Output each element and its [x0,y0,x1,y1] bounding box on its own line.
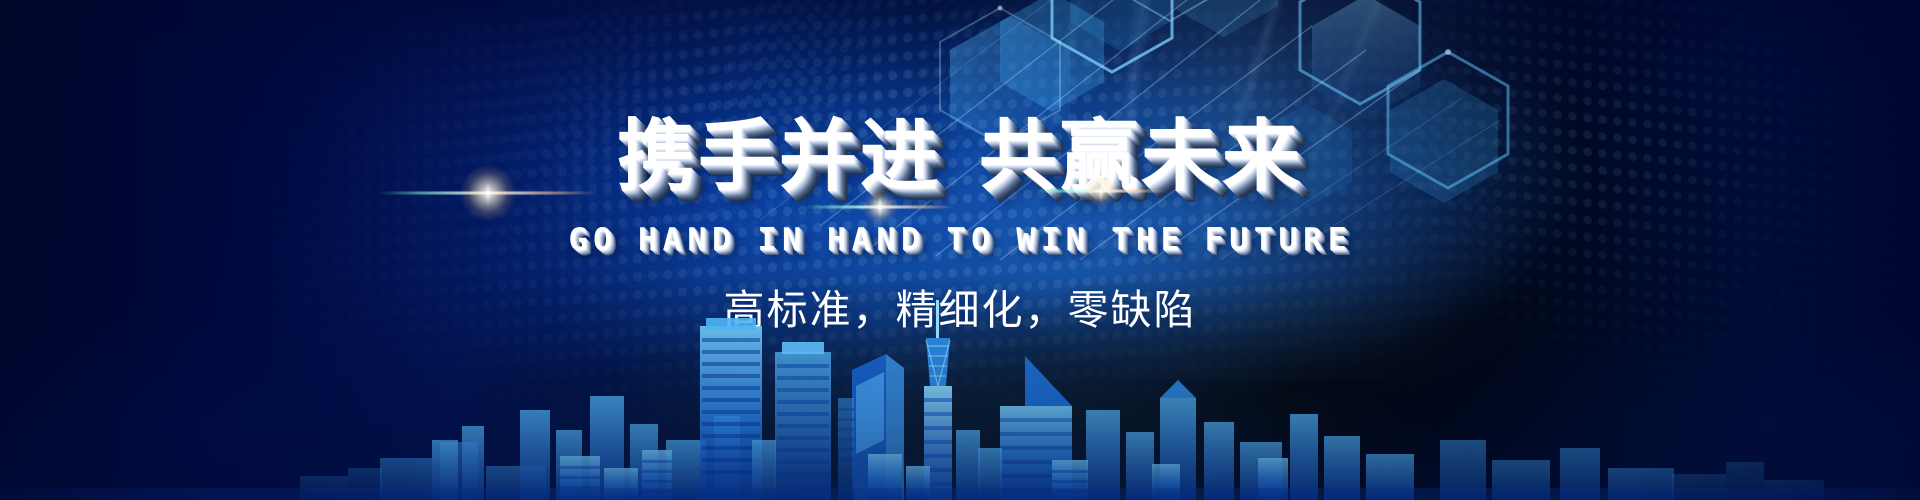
subtitle-word: HAND [827,222,926,258]
subtitle-word: IN [757,222,806,258]
subtitle-word: FUTURE [1205,222,1353,258]
banner-title: 携手并进共赢未来 [617,118,1303,196]
bottom-shade [0,320,1920,500]
subtitle-word: THE [1111,222,1185,258]
subtitle-word: HAND [638,222,737,258]
banner-title-part1: 携手并进 [617,112,941,202]
title-block: 携手并进共赢未来 [0,118,1920,196]
banner-subtitle-english: GOHANDINHANDTOWINTHEFUTURE [0,222,1920,258]
promo-banner: 携手并进共赢未来 GOHANDINHANDTOWINTHEFUTURE 高标准，… [0,0,1920,500]
banner-title-part2: 共赢未来 [979,112,1303,202]
subtitle-word: WIN [1016,222,1090,258]
subtitle-word: TO [946,222,995,258]
subtitle-word: GO [568,222,617,258]
